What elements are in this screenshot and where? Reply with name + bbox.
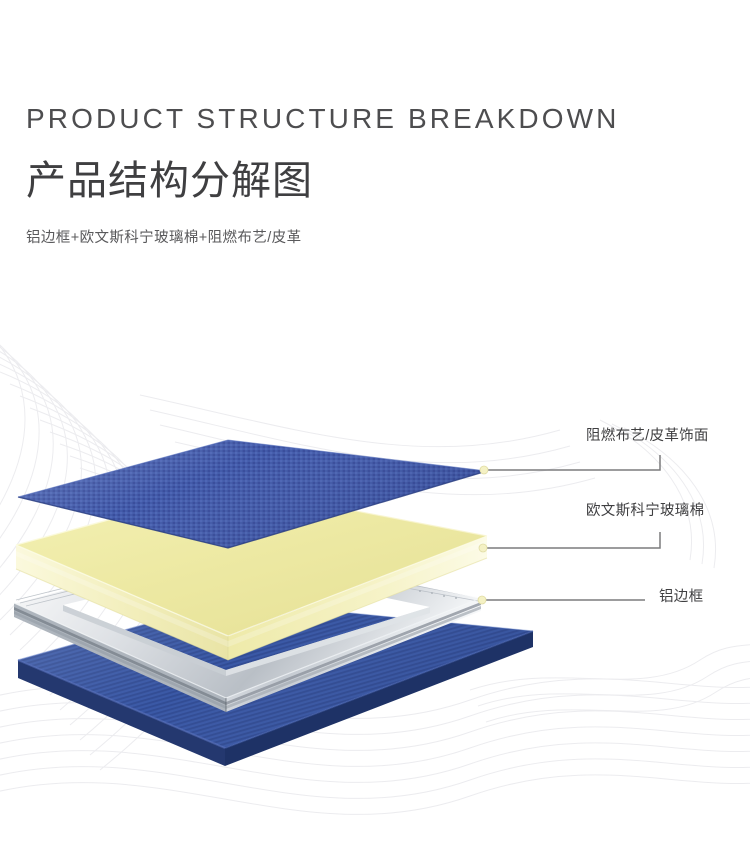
exploded-layer-diagram: [0, 330, 750, 790]
callout-label-facing: 阻燃布艺/皮革饰面: [586, 426, 709, 446]
callout-label-aluminum: 铝边框: [659, 587, 703, 607]
page-subtitle: 铝边框+欧文斯科宁玻璃棉+阻燃布艺/皮革: [26, 227, 726, 249]
leader-line-glasswool: [484, 532, 660, 548]
leader-line-facing: [486, 455, 660, 470]
product-structure-page: PRODUCT STRUCTURE BREAKDOWN 产品结构分解图 铝边框+…: [0, 0, 750, 848]
header-block: PRODUCT STRUCTURE BREAKDOWN 产品结构分解图 铝边框+…: [26, 100, 726, 249]
callout-marker-facing: [480, 466, 488, 474]
callout-marker-glasswool: [479, 544, 487, 552]
callout-marker-aluminum: [478, 596, 486, 604]
page-title-chinese: 产品结构分解图: [26, 155, 726, 207]
callout-label-glasswool: 欧文斯科宁玻璃棉: [586, 501, 704, 521]
callout-leaders: [483, 455, 660, 600]
page-title-english: PRODUCT STRUCTURE BREAKDOWN: [26, 100, 726, 138]
